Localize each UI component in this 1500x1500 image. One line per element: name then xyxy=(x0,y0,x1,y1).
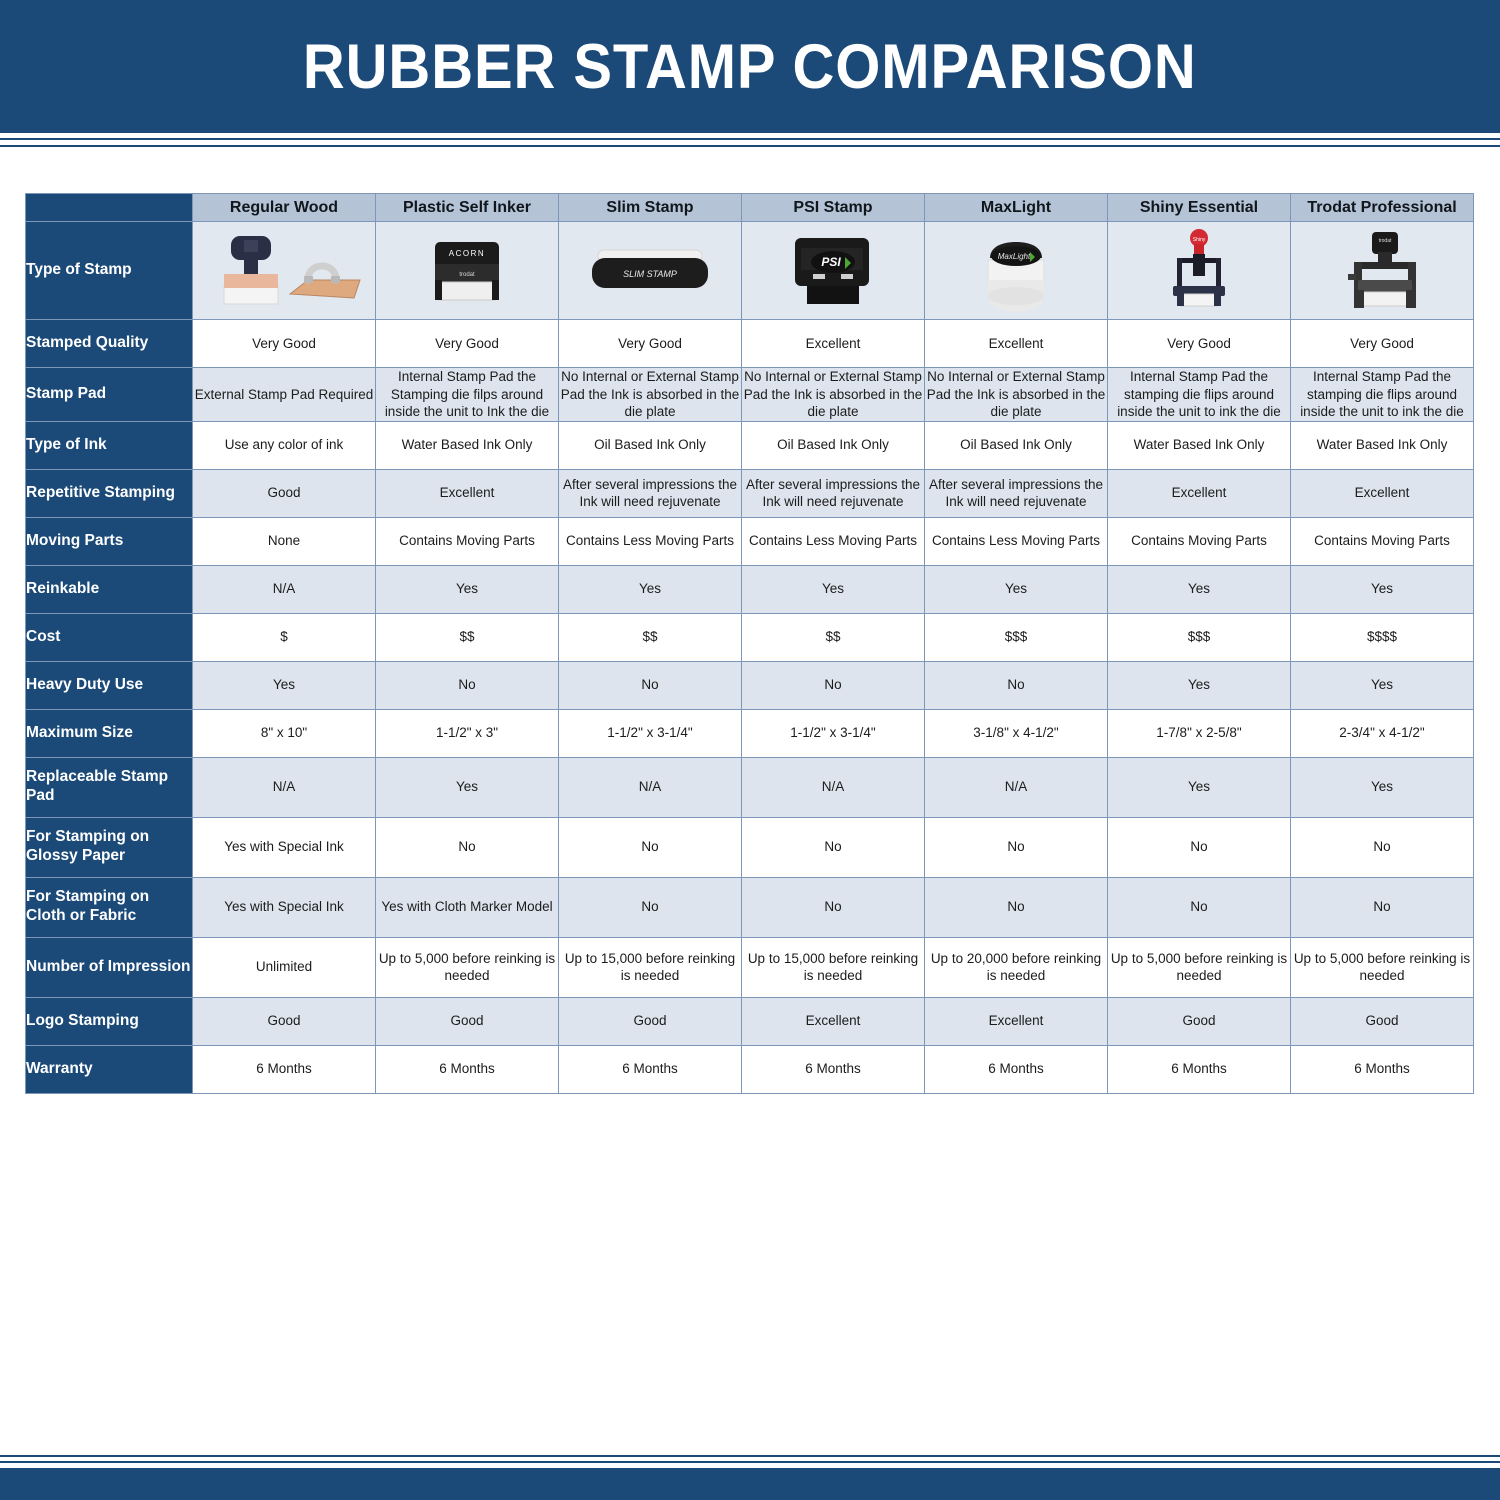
row-label-moving_parts: Moving Parts xyxy=(26,517,193,565)
table-row: Cost$$$$$$$$$$$$$$$$$ xyxy=(26,613,1474,661)
cell-maximum_size-slim_stamp: 1-1/2" x 3-1/4" xyxy=(559,709,742,757)
cell-logo_stamping-maxlight: Excellent xyxy=(925,997,1108,1045)
cell-moving_parts-maxlight: Contains Less Moving Parts xyxy=(925,517,1108,565)
row-label-stamp_pad: Stamp Pad xyxy=(26,368,193,422)
cell-heavy_duty_use-psi_stamp: No xyxy=(742,661,925,709)
row-label-cost: Cost xyxy=(26,613,193,661)
product-image-psi_stamp: PSI xyxy=(742,222,925,320)
column-header-plastic_self_inker: Plastic Self Inker xyxy=(376,194,559,222)
cell-warranty-shiny_essential: 6 Months xyxy=(1108,1045,1291,1093)
cell-warranty-slim_stamp: 6 Months xyxy=(559,1045,742,1093)
cell-stamped_quality-shiny_essential: Very Good xyxy=(1108,320,1291,368)
cell-type_of_ink-trodat_professional: Water Based Ink Only xyxy=(1291,421,1474,469)
cell-maximum_size-psi_stamp: 1-1/2" x 3-1/4" xyxy=(742,709,925,757)
cell-number_of_impression-shiny_essential: Up to 5,000 before reinking is needed xyxy=(1108,937,1291,997)
cell-glossy_paper-trodat_professional: No xyxy=(1291,817,1474,877)
cell-reinkable-plastic_self_inker: Yes xyxy=(376,565,559,613)
table-row: Heavy Duty UseYesNoNoNoNoYesYes xyxy=(26,661,1474,709)
cell-glossy_paper-maxlight: No xyxy=(925,817,1108,877)
cell-replaceable_stamp_pad-maxlight: N/A xyxy=(925,757,1108,817)
cell-heavy_duty_use-slim_stamp: No xyxy=(559,661,742,709)
table-row: Maximum Size8" x 10"1-1/2" x 3"1-1/2" x … xyxy=(26,709,1474,757)
cell-stamped_quality-maxlight: Excellent xyxy=(925,320,1108,368)
table-row: Logo StampingGoodGoodGoodExcellentExcell… xyxy=(26,997,1474,1045)
cell-heavy_duty_use-maxlight: No xyxy=(925,661,1108,709)
cell-cloth_or_fabric-slim_stamp: No xyxy=(559,877,742,937)
page-root: RUBBER STAMP COMPARISON Regular WoodPlas… xyxy=(0,0,1500,1500)
table-row: Replaceable Stamp PadN/AYesN/AN/AN/AYesY… xyxy=(26,757,1474,817)
cell-stamp_pad-psi_stamp: No Internal or External Stamp Pad the In… xyxy=(742,368,925,422)
svg-text:ACORN: ACORN xyxy=(449,249,485,258)
cell-replaceable_stamp_pad-shiny_essential: Yes xyxy=(1108,757,1291,817)
column-header-row: Regular WoodPlastic Self InkerSlim Stamp… xyxy=(26,194,1474,222)
cell-glossy_paper-shiny_essential: No xyxy=(1108,817,1291,877)
cell-cost-maxlight: $$$ xyxy=(925,613,1108,661)
table-head: Regular WoodPlastic Self InkerSlim Stamp… xyxy=(26,194,1474,222)
product-image-shiny_essential: Shiny xyxy=(1108,222,1291,320)
cell-stamp_pad-trodat_professional: Internal Stamp Pad the stamping die flip… xyxy=(1291,368,1474,422)
cell-stamped_quality-trodat_professional: Very Good xyxy=(1291,320,1474,368)
table-corner-cell xyxy=(26,194,193,222)
cell-stamped_quality-slim_stamp: Very Good xyxy=(559,320,742,368)
cell-type_of_ink-maxlight: Oil Based Ink Only xyxy=(925,421,1108,469)
row-label-stamped_quality: Stamped Quality xyxy=(26,320,193,368)
cell-stamp_pad-slim_stamp: No Internal or External Stamp Pad the In… xyxy=(559,368,742,422)
table-row: For Stamping on Cloth or FabricYes with … xyxy=(26,877,1474,937)
cell-logo_stamping-shiny_essential: Good xyxy=(1108,997,1291,1045)
cell-cost-psi_stamp: $$ xyxy=(742,613,925,661)
product-image-trodat_professional: trodat xyxy=(1291,222,1474,320)
cell-number_of_impression-trodat_professional: Up to 5,000 before reinking is needed xyxy=(1291,937,1474,997)
cell-logo_stamping-plastic_self_inker: Good xyxy=(376,997,559,1045)
page-banner: RUBBER STAMP COMPARISON xyxy=(0,0,1500,133)
product-image-plastic_self_inker: ACORNtrodat xyxy=(376,222,559,320)
cell-cloth_or_fabric-maxlight: No xyxy=(925,877,1108,937)
cell-replaceable_stamp_pad-slim_stamp: N/A xyxy=(559,757,742,817)
product-image-regular_wood xyxy=(193,222,376,320)
cell-replaceable_stamp_pad-regular_wood: N/A xyxy=(193,757,376,817)
svg-text:trodat: trodat xyxy=(459,272,475,278)
table-row: ReinkableN/AYesYesYesYesYesYes xyxy=(26,565,1474,613)
svg-text:Shiny: Shiny xyxy=(1193,237,1206,243)
cell-replaceable_stamp_pad-psi_stamp: N/A xyxy=(742,757,925,817)
cell-repetitive_stamping-psi_stamp: After several impressions the Ink will n… xyxy=(742,469,925,517)
cell-moving_parts-trodat_professional: Contains Moving Parts xyxy=(1291,517,1474,565)
svg-text:SLIM STAMP: SLIM STAMP xyxy=(623,269,677,279)
cell-maximum_size-regular_wood: 8" x 10" xyxy=(193,709,376,757)
cell-heavy_duty_use-regular_wood: Yes xyxy=(193,661,376,709)
cell-glossy_paper-psi_stamp: No xyxy=(742,817,925,877)
cell-moving_parts-psi_stamp: Contains Less Moving Parts xyxy=(742,517,925,565)
page-title: RUBBER STAMP COMPARISON xyxy=(303,31,1197,103)
cell-repetitive_stamping-trodat_professional: Excellent xyxy=(1291,469,1474,517)
column-header-regular_wood: Regular Wood xyxy=(193,194,376,222)
row-label-maximum_size: Maximum Size xyxy=(26,709,193,757)
cell-moving_parts-regular_wood: None xyxy=(193,517,376,565)
cell-reinkable-psi_stamp: Yes xyxy=(742,565,925,613)
column-header-trodat_professional: Trodat Professional xyxy=(1291,194,1474,222)
cell-cost-trodat_professional: $$$$ xyxy=(1291,613,1474,661)
row-label-cloth_or_fabric: For Stamping on Cloth or Fabric xyxy=(26,877,193,937)
cell-number_of_impression-slim_stamp: Up to 15,000 before reinking is needed xyxy=(559,937,742,997)
cell-stamped_quality-plastic_self_inker: Very Good xyxy=(376,320,559,368)
cell-logo_stamping-regular_wood: Good xyxy=(193,997,376,1045)
cell-cost-slim_stamp: $$ xyxy=(559,613,742,661)
column-header-slim_stamp: Slim Stamp xyxy=(559,194,742,222)
table-row: Moving PartsNoneContains Moving PartsCon… xyxy=(26,517,1474,565)
cell-logo_stamping-slim_stamp: Good xyxy=(559,997,742,1045)
cell-maximum_size-shiny_essential: 1-7/8" x 2-5/8" xyxy=(1108,709,1291,757)
cell-warranty-trodat_professional: 6 Months xyxy=(1291,1045,1474,1093)
cell-repetitive_stamping-regular_wood: Good xyxy=(193,469,376,517)
cell-cloth_or_fabric-shiny_essential: No xyxy=(1108,877,1291,937)
cell-warranty-regular_wood: 6 Months xyxy=(193,1045,376,1093)
cell-warranty-psi_stamp: 6 Months xyxy=(742,1045,925,1093)
cell-repetitive_stamping-plastic_self_inker: Excellent xyxy=(376,469,559,517)
cell-type_of_ink-psi_stamp: Oil Based Ink Only xyxy=(742,421,925,469)
cell-repetitive_stamping-shiny_essential: Excellent xyxy=(1108,469,1291,517)
cell-replaceable_stamp_pad-trodat_professional: Yes xyxy=(1291,757,1474,817)
cell-logo_stamping-psi_stamp: Excellent xyxy=(742,997,925,1045)
cell-heavy_duty_use-trodat_professional: Yes xyxy=(1291,661,1474,709)
row-label-glossy_paper: For Stamping on Glossy Paper xyxy=(26,817,193,877)
cell-logo_stamping-trodat_professional: Good xyxy=(1291,997,1474,1045)
svg-text:trodat: trodat xyxy=(1379,238,1392,244)
table-row: Stamp PadExternal Stamp Pad RequiredInte… xyxy=(26,368,1474,422)
comparison-table-container: Regular WoodPlastic Self InkerSlim Stamp… xyxy=(25,193,1472,1094)
cell-stamped_quality-regular_wood: Very Good xyxy=(193,320,376,368)
cell-number_of_impression-maxlight: Up to 20,000 before reinking is needed xyxy=(925,937,1108,997)
column-header-psi_stamp: PSI Stamp xyxy=(742,194,925,222)
product-image-slim_stamp: SLIM STAMP xyxy=(559,222,742,320)
cell-maximum_size-trodat_professional: 2-3/4" x 4-1/2" xyxy=(1291,709,1474,757)
row-label-heavy_duty_use: Heavy Duty Use xyxy=(26,661,193,709)
product-image-maxlight: MaxLight xyxy=(925,222,1108,320)
row-label-type_of_ink: Type of Ink xyxy=(26,421,193,469)
cell-glossy_paper-plastic_self_inker: No xyxy=(376,817,559,877)
cell-type_of_ink-regular_wood: Use any color of ink xyxy=(193,421,376,469)
row-label-type_of_stamp: Type of Stamp xyxy=(26,222,193,320)
cell-stamp_pad-maxlight: No Internal or External Stamp Pad the In… xyxy=(925,368,1108,422)
cell-number_of_impression-psi_stamp: Up to 15,000 before reinking is needed xyxy=(742,937,925,997)
cell-moving_parts-plastic_self_inker: Contains Moving Parts xyxy=(376,517,559,565)
comparison-table: Regular WoodPlastic Self InkerSlim Stamp… xyxy=(25,193,1474,1094)
row-label-logo_stamping: Logo Stamping xyxy=(26,997,193,1045)
cell-reinkable-trodat_professional: Yes xyxy=(1291,565,1474,613)
svg-text:MaxLight: MaxLight xyxy=(998,252,1031,261)
cell-reinkable-shiny_essential: Yes xyxy=(1108,565,1291,613)
column-header-maxlight: MaxLight xyxy=(925,194,1108,222)
cell-number_of_impression-regular_wood: Unlimited xyxy=(193,937,376,997)
column-header-shiny_essential: Shiny Essential xyxy=(1108,194,1291,222)
page-footer-band xyxy=(0,1468,1500,1500)
table-row: Type of StampACORNtrodatSLIM STAMPPSIMax… xyxy=(26,222,1474,320)
cell-moving_parts-slim_stamp: Contains Less Moving Parts xyxy=(559,517,742,565)
row-label-repetitive_stamping: Repetitive Stamping xyxy=(26,469,193,517)
cell-number_of_impression-plastic_self_inker: Up to 5,000 before reinking is needed xyxy=(376,937,559,997)
cell-heavy_duty_use-plastic_self_inker: No xyxy=(376,661,559,709)
cell-glossy_paper-slim_stamp: No xyxy=(559,817,742,877)
table-row: For Stamping on Glossy PaperYes with Spe… xyxy=(26,817,1474,877)
cell-cost-regular_wood: $ xyxy=(193,613,376,661)
table-row: Stamped QualityVery GoodVery GoodVery Go… xyxy=(26,320,1474,368)
cell-type_of_ink-slim_stamp: Oil Based Ink Only xyxy=(559,421,742,469)
cell-warranty-plastic_self_inker: 6 Months xyxy=(376,1045,559,1093)
row-label-number_of_impression: Number of Impression xyxy=(26,937,193,997)
cell-maximum_size-plastic_self_inker: 1-1/2" x 3" xyxy=(376,709,559,757)
cell-cloth_or_fabric-plastic_self_inker: Yes with Cloth Marker Model xyxy=(376,877,559,937)
cell-cloth_or_fabric-psi_stamp: No xyxy=(742,877,925,937)
svg-text:PSI: PSI xyxy=(821,255,841,269)
table-row: Repetitive StampingGoodExcellentAfter se… xyxy=(26,469,1474,517)
cell-maximum_size-maxlight: 3-1/8" x 4-1/2" xyxy=(925,709,1108,757)
cell-glossy_paper-regular_wood: Yes with Special Ink xyxy=(193,817,376,877)
table-row: Warranty6 Months6 Months6 Months6 Months… xyxy=(26,1045,1474,1093)
row-label-reinkable: Reinkable xyxy=(26,565,193,613)
banner-divider-rule xyxy=(0,138,1500,147)
cell-repetitive_stamping-slim_stamp: After several impressions the Ink will n… xyxy=(559,469,742,517)
footer-divider-rule xyxy=(0,1455,1500,1463)
cell-stamp_pad-regular_wood: External Stamp Pad Required xyxy=(193,368,376,422)
cell-warranty-maxlight: 6 Months xyxy=(925,1045,1108,1093)
cell-cloth_or_fabric-regular_wood: Yes with Special Ink xyxy=(193,877,376,937)
cell-type_of_ink-plastic_self_inker: Water Based Ink Only xyxy=(376,421,559,469)
cell-reinkable-maxlight: Yes xyxy=(925,565,1108,613)
cell-stamp_pad-plastic_self_inker: Internal Stamp Pad the Stamping die filp… xyxy=(376,368,559,422)
table-body: Type of StampACORNtrodatSLIM STAMPPSIMax… xyxy=(26,222,1474,1094)
cell-cost-shiny_essential: $$$ xyxy=(1108,613,1291,661)
row-label-replaceable_stamp_pad: Replaceable Stamp Pad xyxy=(26,757,193,817)
table-row: Number of ImpressionUnlimitedUp to 5,000… xyxy=(26,937,1474,997)
cell-moving_parts-shiny_essential: Contains Moving Parts xyxy=(1108,517,1291,565)
table-row: Type of InkUse any color of inkWater Bas… xyxy=(26,421,1474,469)
cell-reinkable-regular_wood: N/A xyxy=(193,565,376,613)
cell-replaceable_stamp_pad-plastic_self_inker: Yes xyxy=(376,757,559,817)
cell-reinkable-slim_stamp: Yes xyxy=(559,565,742,613)
row-label-warranty: Warranty xyxy=(26,1045,193,1093)
cell-stamp_pad-shiny_essential: Internal Stamp Pad the stamping die flip… xyxy=(1108,368,1291,422)
cell-cloth_or_fabric-trodat_professional: No xyxy=(1291,877,1474,937)
cell-cost-plastic_self_inker: $$ xyxy=(376,613,559,661)
cell-stamped_quality-psi_stamp: Excellent xyxy=(742,320,925,368)
cell-heavy_duty_use-shiny_essential: Yes xyxy=(1108,661,1291,709)
cell-repetitive_stamping-maxlight: After several impressions the Ink will n… xyxy=(925,469,1108,517)
cell-type_of_ink-shiny_essential: Water Based Ink Only xyxy=(1108,421,1291,469)
